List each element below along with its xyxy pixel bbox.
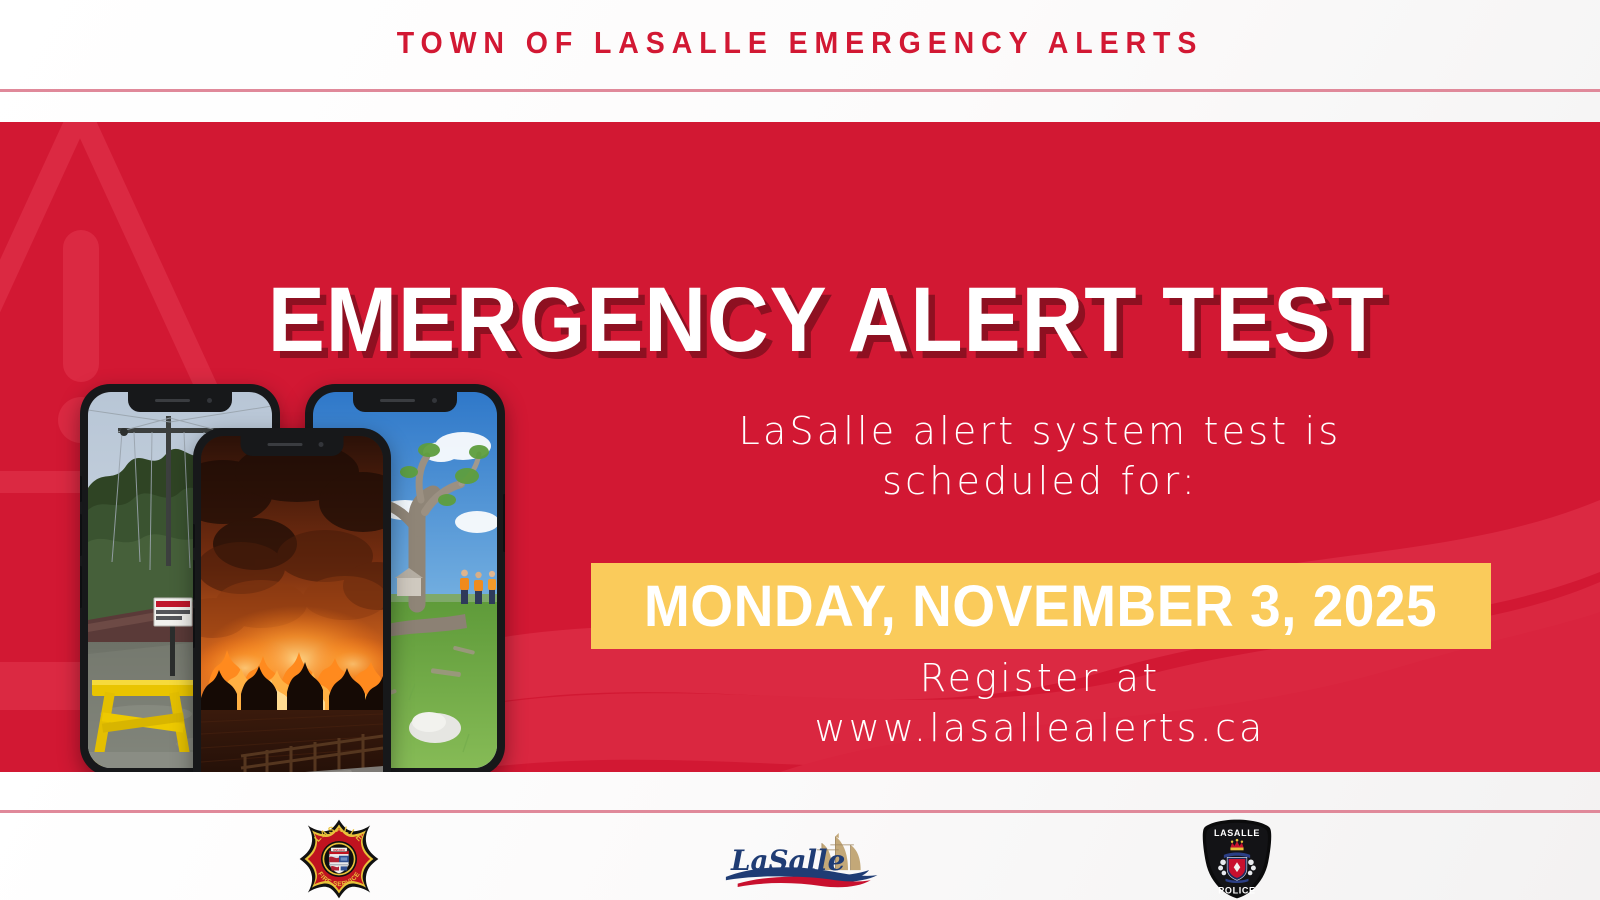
footer-divider <box>0 810 1600 813</box>
subtitle-line-1: LaSalle alert system test is <box>600 407 1480 457</box>
subtitle-block: LaSalle alert system test is scheduled f… <box>600 407 1480 507</box>
town-logo-wordmark: LaSalle <box>730 844 845 877</box>
phone-side-button <box>80 476 82 502</box>
phone-volume-up-button <box>80 514 82 556</box>
main-red-panel: EMERGENCY ALERT TEST LaSalle alert syste… <box>0 122 1600 772</box>
police-logo-top-text: LASALLE <box>1214 828 1260 838</box>
phone-volume-up-button <box>193 560 195 600</box>
date-banner: MONDAY, NOVEMBER 3, 2025 <box>591 563 1491 649</box>
phone-notch <box>353 392 457 412</box>
emergency-alert-poster: TOWN OF LASALLE EMERGENCY ALERTS <box>0 0 1600 900</box>
phone-notch <box>241 436 344 456</box>
police-logo-bottom-text: POLICE <box>1218 885 1255 895</box>
register-block: Register at www.lasallealerts.ca <box>600 654 1480 754</box>
subtitle-line-2: scheduled for: <box>600 457 1480 507</box>
page-title: TOWN OF LASALLE EMERGENCY ALERTS <box>64 25 1536 61</box>
phone-side-button <box>193 524 195 548</box>
phone-notch <box>128 392 232 412</box>
phone-screen-fire <box>201 436 383 772</box>
lasalle-fire-service-logo: ONTARIO LASALLE FIRE SERVICE <box>293 818 385 900</box>
town-of-lasalle-logo: LaSalle <box>714 828 886 892</box>
header-divider <box>0 89 1600 92</box>
phone-power-button <box>503 494 505 552</box>
svg-text:ONTARIO: ONTARIO <box>333 848 345 852</box>
phone-volume-down-button <box>193 608 195 648</box>
register-label: Register at <box>600 654 1480 704</box>
main-headline: EMERGENCY ALERT TEST <box>268 274 1272 366</box>
footer-logos: ONTARIO LASALLE FIRE SERVICE <box>0 818 1600 900</box>
phone-fire <box>193 428 391 772</box>
phone-mockups-group <box>80 380 530 772</box>
brush-fire-scene-image <box>201 436 383 772</box>
lasalle-police-logo: LASALLE POLICE <box>1196 818 1278 900</box>
phone-volume-down-button <box>80 566 82 608</box>
header-bar: TOWN OF LASALLE EMERGENCY ALERTS <box>0 0 1600 122</box>
register-url[interactable]: www.lasallealerts.ca <box>600 704 1480 754</box>
date-banner-text: MONDAY, NOVEMBER 3, 2025 <box>644 573 1437 640</box>
